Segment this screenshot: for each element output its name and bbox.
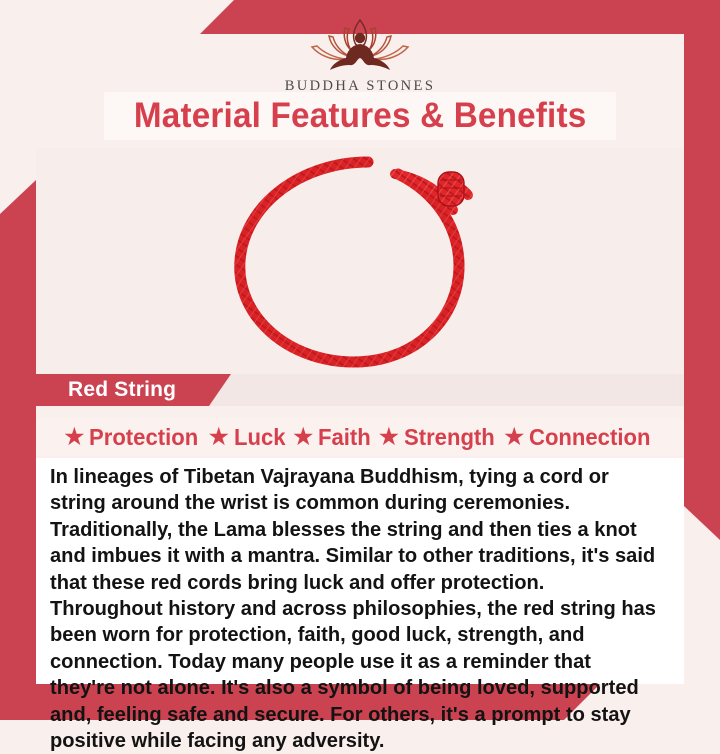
- star-icon: ★: [64, 426, 84, 448]
- product-image: [36, 148, 684, 376]
- page-title-band: Material Features & Benefits: [104, 92, 616, 140]
- benefit-label: Connection: [529, 424, 650, 451]
- star-icon: ★: [209, 426, 229, 448]
- frame-bar-right: [684, 22, 720, 540]
- benefit-item-strength: ★ Strength: [379, 424, 498, 451]
- product-name-banner: Red String: [36, 374, 231, 406]
- adjustable-knot: [438, 172, 464, 206]
- star-icon: ★: [293, 426, 313, 448]
- benefit-item-faith: ★ Faith: [293, 424, 373, 451]
- star-icon: ★: [504, 426, 524, 448]
- benefit-label: Protection: [89, 424, 198, 451]
- benefit-item-luck: ★ Luck: [209, 424, 287, 451]
- brand-name: BUDDHA STONES: [285, 78, 436, 95]
- benefit-label: Luck: [234, 424, 286, 451]
- benefit-label: Strength: [404, 424, 495, 451]
- page-title: Material Features & Benefits: [134, 96, 586, 136]
- benefits-row: ★ Protection ★ Luck ★ Faith ★ Strength ★…: [36, 418, 684, 456]
- benefit-item-connection: ★ Connection: [504, 424, 655, 451]
- infographic-page: BUDDHA STONES Material Features & Benefi…: [0, 0, 720, 720]
- red-braided-cord-bracelet-icon: [210, 148, 510, 376]
- benefit-item-protection: ★ Protection: [64, 424, 202, 451]
- description-text: In lineages of Tibetan Vajrayana Buddhis…: [50, 464, 661, 754]
- benefit-label: Faith: [318, 424, 371, 451]
- description-card: In lineages of Tibetan Vajrayana Buddhis…: [36, 458, 684, 684]
- lotus-meditation-icon: [302, 14, 418, 76]
- brand-header: BUDDHA STONES: [0, 14, 720, 95]
- star-icon: ★: [379, 426, 399, 448]
- product-name: Red String: [36, 378, 176, 402]
- frame-bar-left: [0, 180, 36, 700]
